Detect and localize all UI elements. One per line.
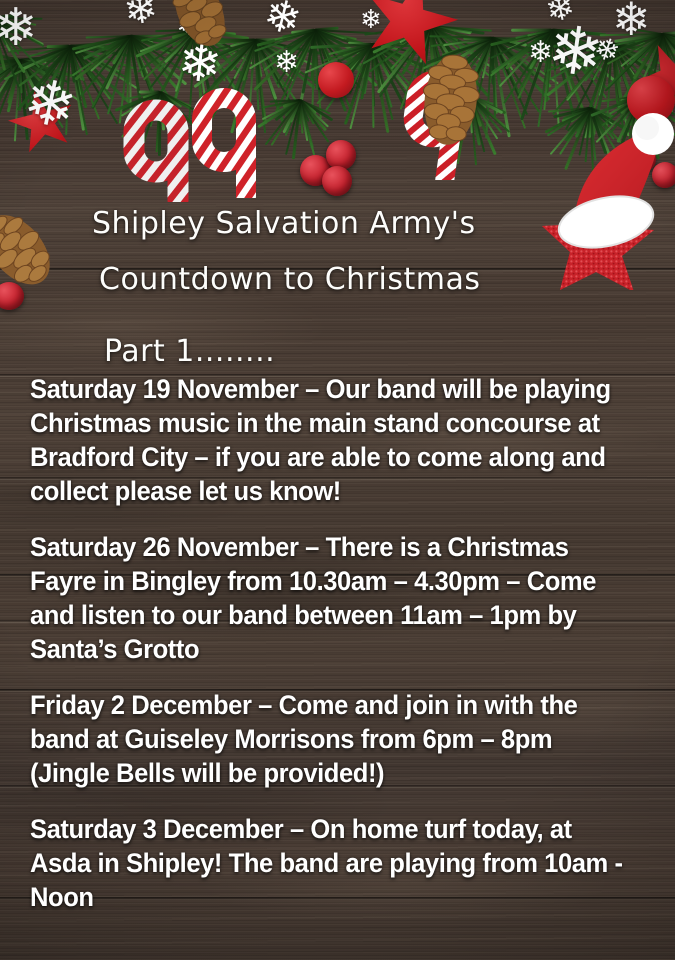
poster-title: Shipley Salvation Army's Countdown to Ch… xyxy=(0,196,675,380)
christmas-poster: ❄ ❄ ❄ ❄ ❄ ❄ ❄ ❄ ❄ ❄ ❄ ❄ ❄ xyxy=(0,0,675,960)
event-paragraph-1: Saturday 19 November – Our band will be … xyxy=(30,372,629,508)
event-paragraph-2: Saturday 26 November – There is a Christ… xyxy=(30,530,629,666)
title-line-2: Countdown to Christmas xyxy=(92,252,675,308)
poster-body: Saturday 19 November – Our band will be … xyxy=(0,372,675,914)
title-line-1: Shipley Salvation Army's xyxy=(92,196,675,252)
event-paragraph-4: Saturday 3 December – On home turf today… xyxy=(30,812,629,914)
event-paragraph-3: Friday 2 December – Come and join in wit… xyxy=(30,688,629,790)
